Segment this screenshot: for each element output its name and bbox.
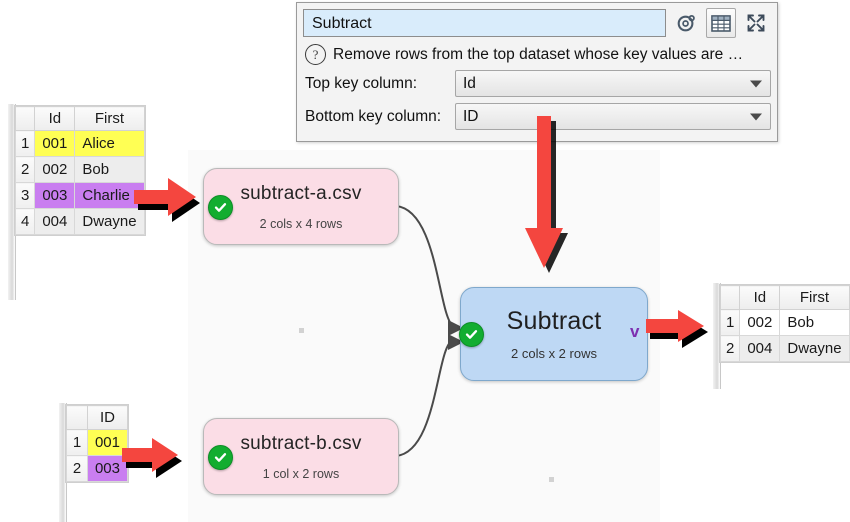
corner-header	[721, 286, 740, 310]
table-row[interactable]: 2 002 Bob	[16, 157, 145, 183]
annotation-arrow-to-subtract-a	[134, 178, 208, 232]
expand-arrows-icon	[746, 13, 766, 33]
row-number: 1	[67, 430, 88, 456]
table-row[interactable]: 3 003 Charlie	[16, 183, 145, 209]
table-row[interactable]: 4 004 Dwayne	[16, 209, 145, 235]
top-key-column-select[interactable]: Id	[455, 70, 771, 97]
node-status-ok-icon	[459, 322, 484, 347]
table-row[interactable]: 2 003	[67, 456, 128, 482]
node-subtitle: 2 cols x 4 rows	[260, 217, 343, 231]
annotation-arrow-to-output	[646, 310, 722, 358]
top-key-column-row: Top key column: Id	[297, 67, 777, 100]
output-table[interactable]: Id First 1 002 Bob 2 004 Dwayne	[720, 285, 850, 362]
table-row[interactable]: 1 002 Bob	[721, 310, 850, 336]
top-key-column-value: Id	[463, 75, 476, 93]
panel-name-row: Subtract	[297, 3, 777, 42]
row-number: 3	[16, 183, 35, 209]
row-number: 2	[16, 157, 35, 183]
grid-table-icon	[711, 15, 731, 32]
column-header-first[interactable]: First	[75, 107, 144, 131]
column-header-id[interactable]: ID	[87, 406, 127, 430]
settings-gear-button[interactable]	[671, 8, 701, 38]
table-row[interactable]: 1 001	[67, 430, 128, 456]
row-number: 1	[721, 310, 740, 336]
cell-id[interactable]: 002	[35, 157, 75, 183]
cell-first[interactable]: Dwayne	[780, 336, 849, 362]
chevron-down-icon	[750, 80, 762, 87]
node-title: Subtract	[507, 307, 602, 336]
corner-header	[67, 406, 88, 430]
workflow-canvas[interactable]: subtract-a.csv 2 cols x 4 rows subtract-…	[188, 150, 660, 522]
annotation-arrow-to-subtract-b	[122, 438, 196, 492]
cell-id[interactable]: 001	[35, 131, 75, 157]
table-row[interactable]: 1 001 Alice	[16, 131, 145, 157]
top-key-column-label: Top key column:	[305, 75, 455, 93]
table-header-row: ID	[67, 406, 128, 430]
bottom-key-column-value: ID	[463, 108, 479, 126]
panel-description-text: Remove rows from the top dataset whose k…	[333, 46, 743, 64]
table-row[interactable]: 2 004 Dwayne	[721, 336, 850, 362]
column-header-id[interactable]: Id	[35, 107, 75, 131]
node-title: subtract-b.csv	[240, 433, 361, 455]
node-subtitle: 2 cols x 2 rows	[511, 346, 597, 361]
table-header-row: Id First	[721, 286, 850, 310]
bottom-key-column-label: Bottom key column:	[305, 108, 455, 126]
bottom-key-column-select[interactable]: ID	[455, 103, 771, 130]
input-table-a[interactable]: Id First 1 001 Alice 2 002 Bob 3 003 Cha…	[15, 106, 145, 235]
item-name-input[interactable]: Subtract	[303, 9, 666, 37]
row-number: 2	[721, 336, 740, 362]
row-number: 4	[16, 209, 35, 235]
node-subtitle: 1 col x 2 rows	[263, 467, 339, 481]
node-status-ok-icon	[208, 195, 233, 220]
panel-description-row: ? Remove rows from the top dataset whose…	[297, 42, 777, 67]
chevron-down-icon	[750, 113, 762, 120]
input-table-b[interactable]: ID 1 001 2 003	[66, 405, 128, 482]
cell-first[interactable]: Bob	[780, 310, 849, 336]
column-header-first[interactable]: First	[780, 286, 849, 310]
table-header-row: Id First	[16, 107, 145, 131]
cell-id[interactable]: 004	[740, 336, 780, 362]
node-status-ok-icon	[208, 445, 233, 470]
question-mark-icon[interactable]: ?	[305, 44, 326, 65]
row-number: 2	[67, 456, 88, 482]
annotation-arrow-panel-to-node	[525, 116, 587, 286]
gear-icon	[677, 14, 696, 33]
node-title: subtract-a.csv	[240, 183, 361, 205]
cell-id[interactable]: 004	[35, 209, 75, 235]
node-subtract[interactable]: Subtract 2 cols x 2 rows	[460, 287, 648, 381]
cell-id[interactable]: 002	[740, 310, 780, 336]
expand-button[interactable]	[741, 8, 771, 38]
corner-header	[16, 107, 35, 131]
column-header-id[interactable]: Id	[740, 286, 780, 310]
node-output-marker: v	[630, 322, 639, 342]
cell-first[interactable]: Alice	[75, 131, 144, 157]
cell-id[interactable]: 003	[35, 183, 75, 209]
table-view-button[interactable]	[706, 8, 736, 38]
row-number: 1	[16, 131, 35, 157]
